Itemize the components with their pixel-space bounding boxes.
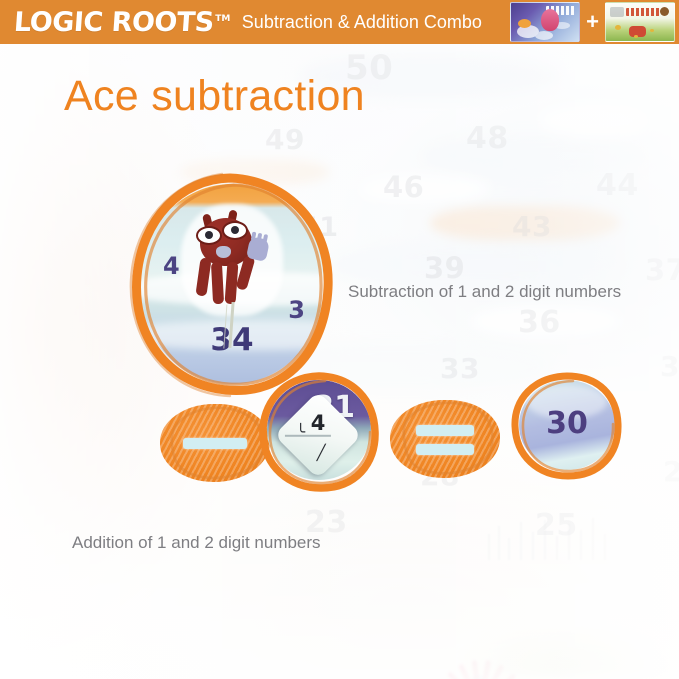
circled-result-tile[interactable]: 30 xyxy=(505,368,629,484)
marker-circle-dice xyxy=(255,370,383,494)
circled-dice-tile[interactable]: 21 4 ╰ ╱ xyxy=(255,370,383,494)
mouse-mania-box[interactable] xyxy=(605,2,675,42)
caption-subtraction: Subtraction of 1 and 2 digit numbers xyxy=(348,282,621,302)
header-bar: LOGIC ROOTSTM Subtraction & Addition Com… xyxy=(0,0,679,44)
mouse-icon xyxy=(629,26,646,37)
marker-circle-octopus xyxy=(122,168,340,400)
trademark-symbol: TM xyxy=(215,15,230,24)
bee-icon xyxy=(615,25,621,30)
fish-icon xyxy=(518,19,531,28)
marker-scribble-equals xyxy=(390,400,500,478)
screenshot-root: 5049484644434139373633322825232 xyxy=(0,0,679,679)
header-title: Subtraction & Addition Combo xyxy=(242,12,482,33)
minus-operator[interactable] xyxy=(160,404,270,482)
plus-symbol: + xyxy=(586,11,599,33)
equation-row: 21 4 ╰ ╱ xyxy=(160,372,630,498)
box-title-lines xyxy=(546,6,576,15)
marker-circle-result xyxy=(505,368,629,484)
header-product-thumbnails: + xyxy=(510,2,675,42)
caption-addition: Addition of 1 and 2 digit numbers xyxy=(72,533,321,553)
marker-scribble-minus xyxy=(160,404,270,482)
equals-operator[interactable] xyxy=(390,400,500,478)
cloud-hoppers-box[interactable] xyxy=(510,2,580,42)
brand-logo-text: LOGIC ROOTS xyxy=(13,7,215,38)
page-title: Ace subtraction xyxy=(64,72,365,121)
circled-board-tile[interactable]: 4 3 34 xyxy=(122,168,340,400)
box-title-lines xyxy=(626,8,660,16)
brand-logo[interactable]: LOGIC ROOTSTM xyxy=(13,9,231,36)
